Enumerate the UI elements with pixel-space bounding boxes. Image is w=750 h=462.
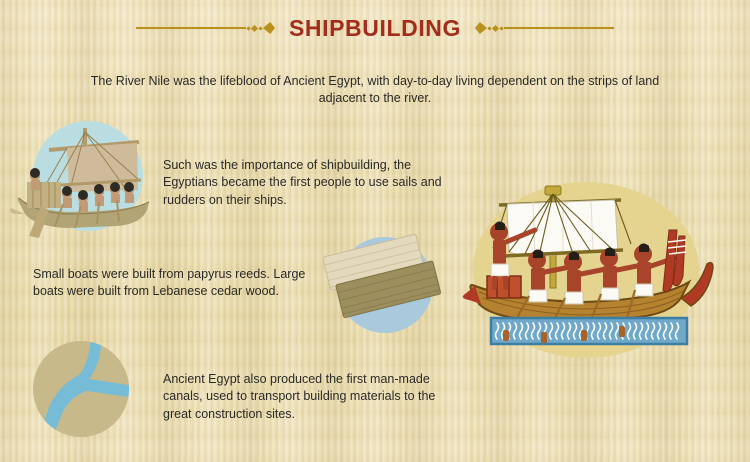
paragraph-canals: Ancient Egypt also produced the first ma… (163, 371, 463, 424)
canal-circle-background (33, 341, 129, 437)
divider-bar (136, 27, 246, 29)
infographic-page: SHIPBUILDING The River Nile was the life… (0, 0, 750, 462)
diamond-icon (263, 22, 275, 34)
divider-dot (499, 26, 503, 30)
page-header: SHIPBUILDING (0, 8, 750, 48)
gold-diamond-divider-left (136, 18, 275, 38)
paragraph-sails: Such was the importance of shipbuilding,… (163, 157, 443, 210)
divider-bar (504, 27, 614, 29)
intro-paragraph: The River Nile was the lifeblood of Anci… (75, 73, 675, 108)
divider-dots (247, 26, 262, 31)
divider-dot (258, 26, 262, 30)
divider-dots (488, 26, 503, 31)
diamond-icon (475, 22, 487, 34)
page-title: SHIPBUILDING (289, 15, 461, 42)
cedar-planks-illustration (327, 228, 452, 340)
egyptian-sailboat-illustration (5, 120, 155, 240)
paragraph-wood: Small boats were built from papyrus reed… (33, 266, 333, 301)
egyptian-rowing-ship-illustration (463, 178, 715, 350)
canal-waterway-illustration (33, 341, 129, 437)
gold-diamond-divider-right (475, 18, 614, 38)
nile-water-band (491, 318, 687, 344)
